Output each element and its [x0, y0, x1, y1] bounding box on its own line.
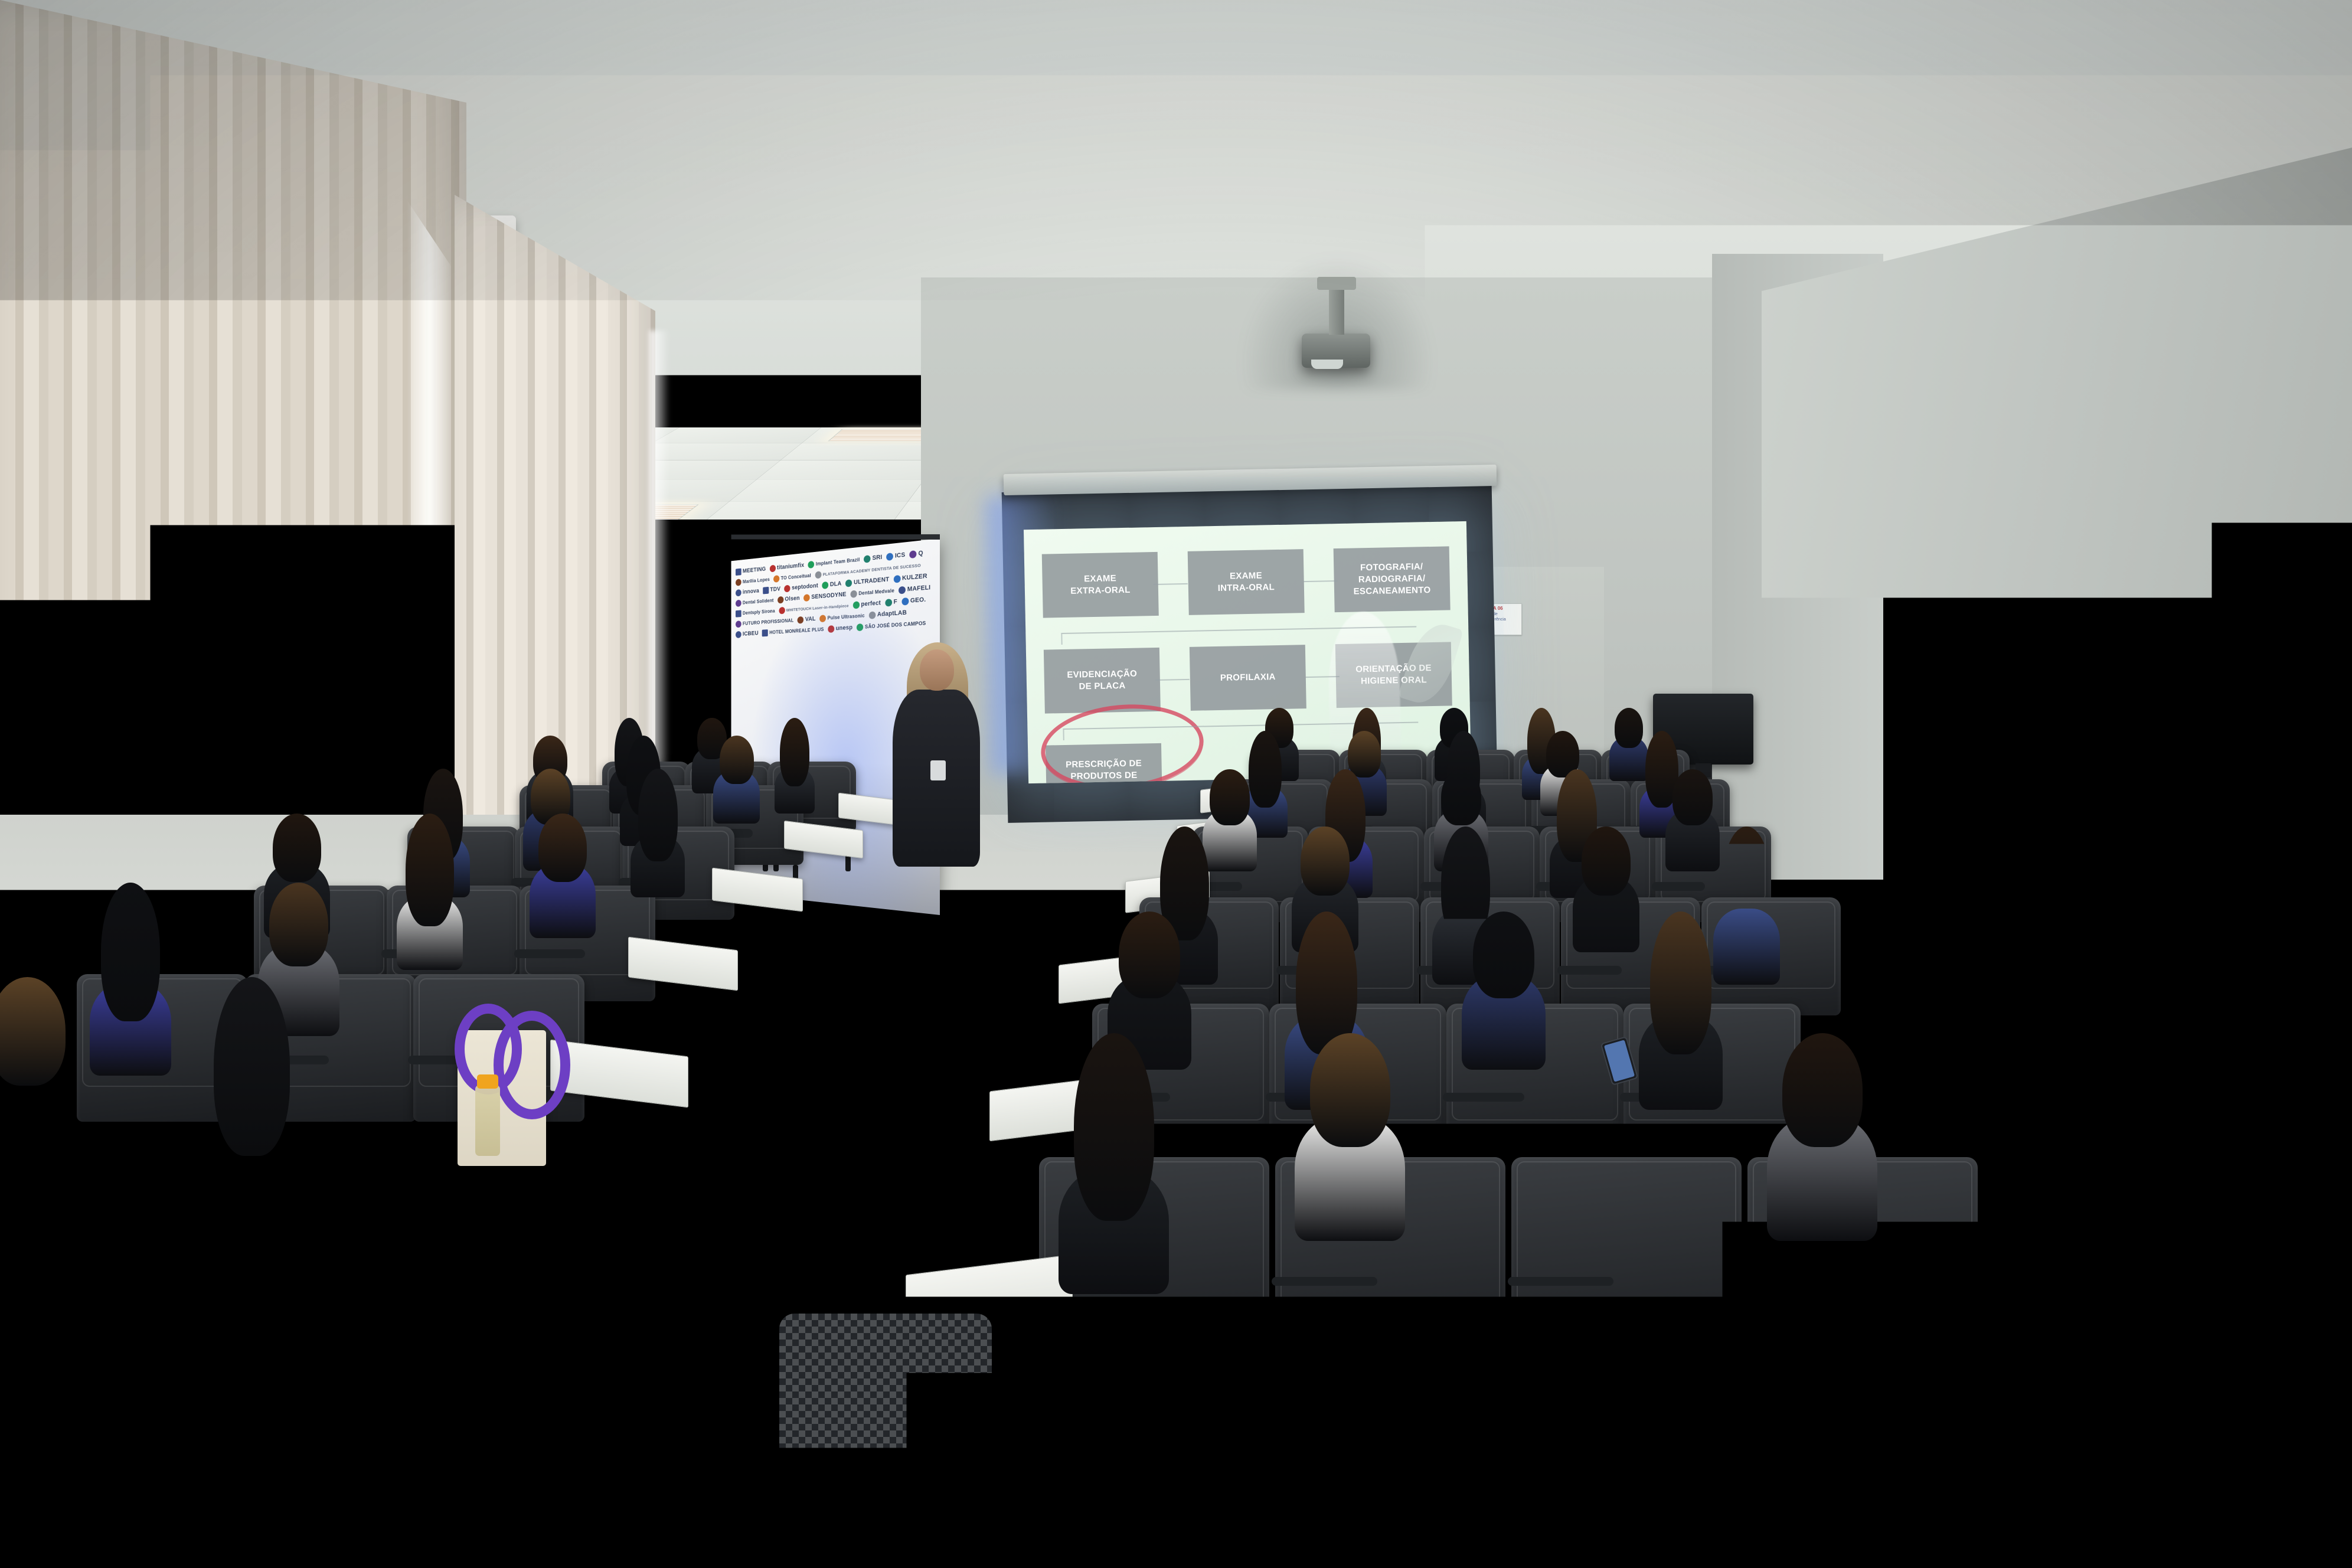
sponsor-logo-mark-icon: [769, 565, 775, 573]
sponsor-logo: Implant Team Brazil: [808, 556, 860, 569]
sponsor-logo: SÃO JOSÉ DOS CAMPOS: [857, 619, 926, 631]
sponsor-logo: SENSODYNE: [803, 591, 846, 602]
audience-head: [1249, 731, 1282, 808]
sponsor-logo: Dental Medvale: [850, 587, 894, 597]
chair-leg: [189, 1293, 194, 1400]
ceiling-tile: [697, 502, 909, 520]
sponsor-logo-label: MEETING: [743, 566, 766, 574]
sponsor-logo-label: innova: [743, 588, 759, 595]
chair-leg: [1967, 1364, 1972, 1478]
flowchart-box-label: EVIDENCIAÇÃODE PLACA: [1067, 668, 1137, 693]
ceiling-projector-icon: [1302, 334, 1370, 368]
bottle-cap-icon: [477, 1074, 498, 1089]
sponsor-logo-mark-icon: [798, 616, 804, 624]
sponsor-logo: MAFELI: [899, 584, 930, 594]
tote-handle-right: [494, 1011, 570, 1119]
chair-leg: [1259, 1364, 1264, 1478]
audience-head-blue-sweater: [2125, 903, 2249, 1080]
sponsor-logo-label: WHITETOUCH Laser-in-Handpiece: [786, 603, 849, 612]
presenter-badge: [930, 760, 946, 780]
sponsor-logo: WHITETOUCH Laser-in-Handpiece: [779, 602, 849, 615]
sponsor-logo-mark-icon: [857, 623, 863, 631]
audience-head: [720, 736, 754, 783]
audience-head: [269, 883, 329, 966]
sponsor-logo-label: TDV: [770, 586, 780, 593]
chair-armrest: [1508, 1277, 1613, 1286]
sponsor-logo: DLA: [822, 580, 842, 589]
flowchart-box-label: EXAMEINTRA-ORAL: [1217, 570, 1275, 594]
flowchart-box-label: FOTOGRAFIA/RADIOGRAFIA/ESCANEAMENTO: [1353, 561, 1431, 598]
audience-head: [780, 718, 809, 787]
audience-head: [1615, 708, 1643, 748]
sponsor-logo: innova: [736, 587, 759, 596]
sponsor-logo-mark-icon: [899, 586, 906, 594]
chair-leg: [1495, 1364, 1500, 1478]
sponsor-logo-mark-icon: [779, 607, 785, 615]
sponsor-logo-label: ICBEU: [743, 631, 759, 637]
sponsor-logo-mark-icon: [864, 555, 870, 563]
sponsor-logo-mark-icon: [778, 596, 783, 604]
smartphone-icon: [1948, 968, 1975, 1012]
sponsor-logo-mark-icon: [850, 590, 857, 598]
sponsor-logo-label: unesp: [836, 625, 853, 632]
chair-leg: [1753, 1364, 1759, 1478]
sponsor-logo-mark-icon: [803, 594, 810, 602]
audience-head: [1582, 827, 1631, 896]
chair-leg: [1045, 1364, 1050, 1478]
sponsor-logo: PLATAFORMA ACADEMY DENTISTA DE SUCESSO: [815, 561, 920, 579]
sponsor-logo-mark-icon: [762, 629, 768, 636]
sponsor-logo-label: titaniumfix: [777, 563, 804, 571]
chair-armrest: [514, 949, 585, 958]
sponsor-logo-mark-icon: [845, 579, 852, 587]
sponsor-logo-label: Dental Solident: [743, 598, 774, 605]
sponsor-logo: VAL: [798, 616, 816, 624]
audience-head: [1473, 912, 1534, 998]
sponsor-logo-label: TO Conceitual: [781, 573, 811, 581]
sponsor-logo-label: ICS: [895, 552, 905, 559]
sponsor-logo: HOTEL MONREALE PLUS: [762, 626, 824, 636]
sponsor-logo-label: KULZER: [902, 573, 927, 582]
sponsor-logo: ICS: [887, 551, 906, 561]
flowchart-box-b5: PROFILAXIA: [1190, 645, 1306, 711]
chair-armrest: [1443, 1093, 1524, 1102]
ceiling-tile: [652, 427, 822, 443]
audience-head: [538, 814, 587, 881]
sponsor-logo-mark-icon: [910, 550, 917, 558]
presenter-head: [920, 649, 954, 691]
sponsor-logo: F: [885, 598, 897, 606]
audience-head: [273, 814, 321, 881]
sponsor-logo-label: SENSODYNE: [811, 592, 846, 600]
slide-flowchart: EXAMEEXTRA-ORAL EXAMEINTRA-ORAL FOTOGRAF…: [1024, 521, 1471, 783]
audience-head: [406, 814, 454, 926]
chair-leg: [166, 1293, 172, 1400]
sponsor-logo-mark-icon: [784, 585, 790, 593]
flowchart-box-b3: FOTOGRAFIA/RADIOGRAFIA/ESCANEAMENTO: [1334, 546, 1451, 612]
chair-leg: [1517, 1364, 1523, 1478]
sponsor-logo-label: SÃO JOSÉ DOS CAMPOS: [865, 620, 926, 629]
audience-head: [1722, 827, 1771, 940]
sponsor-logo-label: F: [894, 599, 897, 605]
sponsor-logo-label: DLA: [830, 581, 842, 588]
sponsor-logo-mark-icon: [736, 631, 741, 638]
audience-head: [1782, 1033, 1863, 1147]
sponsor-logo-mark-icon: [763, 587, 769, 594]
sponsor-logo: Dental Solident: [736, 597, 774, 607]
sponsor-logo-label: AdaptLAB: [877, 610, 907, 618]
lecture-hall-photo: SALA 06 Sala de Conferência EXAMEEXTRA-O…: [0, 0, 2352, 1568]
sponsor-logo-mark-icon: [815, 571, 821, 579]
chair-leg: [1281, 1364, 1286, 1478]
audience-head: [1672, 769, 1712, 825]
sponsor-logo-mark-icon: [736, 620, 741, 628]
sponsor-logo-mark-icon: [869, 612, 876, 619]
sponsor-logo-label: ULTRADENT: [854, 577, 889, 586]
sponsor-logo: perfect: [853, 600, 881, 609]
audience-head: [1119, 912, 1180, 998]
chair-leg: [574, 1122, 579, 1203]
sponsor-logo-mark-icon: [822, 582, 829, 589]
projector-lens-icon: [1311, 360, 1343, 369]
chair-leg: [1731, 1364, 1736, 1478]
sponsor-logo-mark-icon: [808, 561, 815, 569]
sponsor-logo-label: Implant Team Brazil: [816, 557, 860, 567]
sponsor-logo: Pulse Ultrasonic: [819, 612, 864, 622]
flowchart-box-label: EXAMEEXTRA-ORAL: [1070, 573, 1131, 597]
sponsor-logo-label: SRI: [873, 554, 883, 561]
sponsor-logo: TDV: [763, 586, 780, 594]
sponsor-logo: unesp: [828, 624, 852, 633]
sponsor-logo-label: Dental Medvale: [858, 588, 894, 596]
sponsor-logo-mark-icon: [885, 599, 892, 606]
sponsor-logo-label: Pulse Ultrasonic: [828, 613, 865, 621]
sponsor-logo: TO Conceitual: [773, 572, 811, 583]
chair[interactable]: [1511, 1157, 1742, 1364]
sponsor-logo: GEO.: [901, 596, 926, 606]
audience-head: [214, 977, 290, 1156]
sponsor-logo: SRI: [864, 554, 882, 563]
ceiling-tile: [729, 480, 925, 502]
window-light-gap-far: [649, 331, 669, 791]
chair-leg: [419, 1122, 424, 1203]
projection-screen: EXAMEEXTRA-ORAL EXAMEINTRA-ORAL FOTOGRAF…: [1024, 521, 1471, 783]
sponsor-logo: Olsen: [778, 595, 800, 604]
sponsor-logo-label: perfect: [861, 600, 881, 608]
sponsor-logo-label: Q: [919, 550, 923, 557]
sponsor-logo-mark-icon: [736, 610, 741, 617]
sponsor-logo: ULTRADENT: [845, 576, 889, 587]
sponsor-logo-mark-icon: [736, 579, 741, 586]
sponsor-logo-mark-icon: [819, 615, 826, 622]
water-bottle: [475, 1085, 500, 1156]
sponsor-logo-label: FUTURO PROFISSIONAL: [743, 618, 793, 626]
sponsor-logo: AdaptLAB: [869, 609, 907, 619]
flowchart-box-b1: EXAMEEXTRA-ORAL: [1042, 552, 1159, 618]
sponsor-logo-label: Olsen: [785, 596, 799, 603]
sponsor-logo-mark-icon: [853, 601, 860, 609]
sponsor-logo: titaniumfix: [769, 562, 804, 573]
chair-armrest: [1744, 1277, 1850, 1286]
sponsor-logo: Marilia Lopes: [736, 576, 770, 586]
chair-armrest: [1272, 1277, 1377, 1286]
audience-head: [1310, 1033, 1390, 1147]
sponsor-logo: ICBEU: [736, 630, 759, 638]
sponsor-logo-label: VAL: [805, 616, 816, 622]
sponsor-logo-label: Dentsply Sirona: [743, 609, 775, 616]
audience-head: [1441, 769, 1481, 825]
audience-head: [101, 883, 161, 1021]
flowchart-box-b4: EVIDENCIAÇÃODE PLACA: [1044, 648, 1161, 714]
sponsor-logo-mark-icon: [901, 597, 909, 606]
audience-head: [638, 769, 678, 861]
sponsor-logo-mark-icon: [736, 600, 741, 607]
audience-head: [1301, 827, 1350, 896]
sponsor-logo-mark-icon: [736, 569, 741, 576]
sponsor-logo-mark-icon: [828, 625, 834, 633]
room-shell: SALA 06 Sala de Conferência EXAMEEXTRA-O…: [0, 0, 2352, 1568]
sponsor-logo: KULZER: [893, 573, 927, 583]
sponsor-logo: MEETING: [736, 566, 766, 576]
sponsor-logo-mark-icon: [887, 553, 894, 561]
sponsor-logo-mark-icon: [736, 589, 741, 596]
sponsor-logo-label: HOTEL MONREALE PLUS: [769, 627, 824, 635]
audience-head: [1210, 769, 1249, 825]
sponsor-logo-label: PLATAFORMA ACADEMY DENTISTA DE SUCESSO: [823, 563, 921, 577]
sponsor-logo: FUTURO PROFISSIONAL: [736, 617, 793, 628]
sponsor-logo: septodont: [784, 582, 818, 592]
flowchart-row: EXAMEEXTRA-ORAL EXAMEINTRA-ORAL FOTOGRAF…: [1042, 546, 1451, 618]
audience-head: [1650, 912, 1711, 1054]
sponsor-logo-label: MAFELI: [907, 584, 930, 593]
ceiling-tile: [756, 460, 939, 480]
sponsor-logo-label: GEO.: [910, 597, 926, 605]
sponsor-logo-label: septodont: [792, 583, 818, 591]
flowchart-box-b2: EXAMEINTRA-ORAL: [1188, 549, 1305, 615]
chair-armrest: [1557, 966, 1622, 975]
audience-head: [1348, 731, 1381, 778]
sponsor-logo: Q: [910, 550, 923, 558]
sponsor-logo-mark-icon: [893, 575, 900, 583]
flowchart-box-label: PROFILAXIA: [1220, 671, 1276, 684]
audience-torso-blue-sweater: [2090, 1057, 2285, 1311]
chair-armrest: [1652, 882, 1705, 891]
curtain-left-main: [0, 0, 466, 933]
sponsor-logo-mark-icon: [773, 575, 779, 583]
audience-head: [1074, 1033, 1154, 1221]
sponsor-logo: Dentsply Sirona: [736, 607, 775, 618]
banner-top-rail: [731, 534, 940, 540]
houndstooth-backpack: [779, 1314, 992, 1485]
sponsor-logo-label: Marilia Lopes: [743, 577, 770, 584]
chair-leg: [391, 1293, 396, 1400]
